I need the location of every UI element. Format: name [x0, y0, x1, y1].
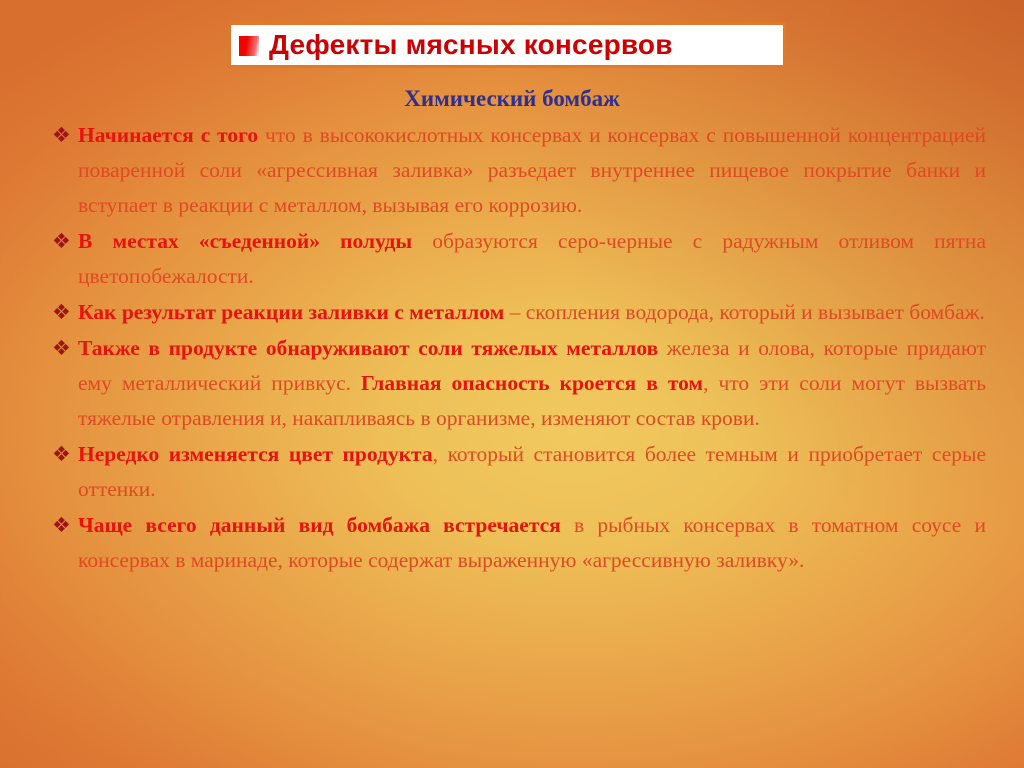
list-item-text: Начинается с того что в высококислотных … [78, 118, 986, 223]
list-item-text: Также в продукте обнаруживают соли тяжел… [78, 331, 986, 436]
list-item: ❖Нередко изменяется цвет продукта, котор… [52, 437, 986, 507]
text-run-normal: – скопления водорода, который и вызывает… [510, 300, 985, 324]
list-item: ❖Начинается с того что в высококислотных… [52, 118, 986, 223]
list-item-text: Нередко изменяется цвет продукта, которы… [78, 437, 986, 507]
text-run-emphasis: Чаще всего данный вид бомбажа встречаетс… [78, 513, 574, 537]
list-item-text: Чаще всего данный вид бомбажа встречаетс… [78, 508, 986, 578]
page-title: Дефекты мясных консервов [269, 30, 673, 60]
text-run-emphasis: Нередко изменяется цвет продукта [78, 442, 433, 466]
text-run-emphasis: Как результат реакции заливки с металлом [78, 300, 510, 324]
text-run-emphasis: Также в продукте обнаруживают соли тяжел… [78, 336, 667, 360]
red-gradient-square-icon [239, 36, 259, 56]
list-item: ❖Чаще всего данный вид бомбажа встречает… [52, 508, 986, 578]
diamond-cluster-bullet-icon: ❖ [52, 224, 78, 259]
diamond-cluster-bullet-icon: ❖ [52, 118, 78, 153]
slide-subtitle: Химический бомбаж [0, 86, 1024, 112]
list-item-text: Как результат реакции заливки с металлом… [78, 295, 986, 330]
list-item: ❖Как результат реакции заливки с металло… [52, 295, 986, 330]
diamond-cluster-bullet-icon: ❖ [52, 437, 78, 472]
text-run-emphasis: Главная опасность кроется в том [361, 371, 703, 395]
text-run-emphasis: Начинается с того [78, 123, 265, 147]
slide-canvas: Дефекты мясных консервов Химический бомб… [0, 0, 1024, 768]
diamond-cluster-bullet-icon: ❖ [52, 331, 78, 366]
list-item-text: В местах «съеденной» полуды образуются с… [78, 224, 986, 294]
list-item: ❖В местах «съеденной» полуды образуются … [52, 224, 986, 294]
diamond-cluster-bullet-icon: ❖ [52, 508, 78, 543]
text-run-emphasis: В местах «съеденной» полуды [78, 229, 432, 253]
bullet-list: ❖Начинается с того что в высококислотных… [52, 118, 986, 579]
slide-title-box: Дефекты мясных консервов [228, 22, 786, 68]
diamond-cluster-bullet-icon: ❖ [52, 295, 78, 330]
list-item: ❖Также в продукте обнаруживают соли тяже… [52, 331, 986, 436]
